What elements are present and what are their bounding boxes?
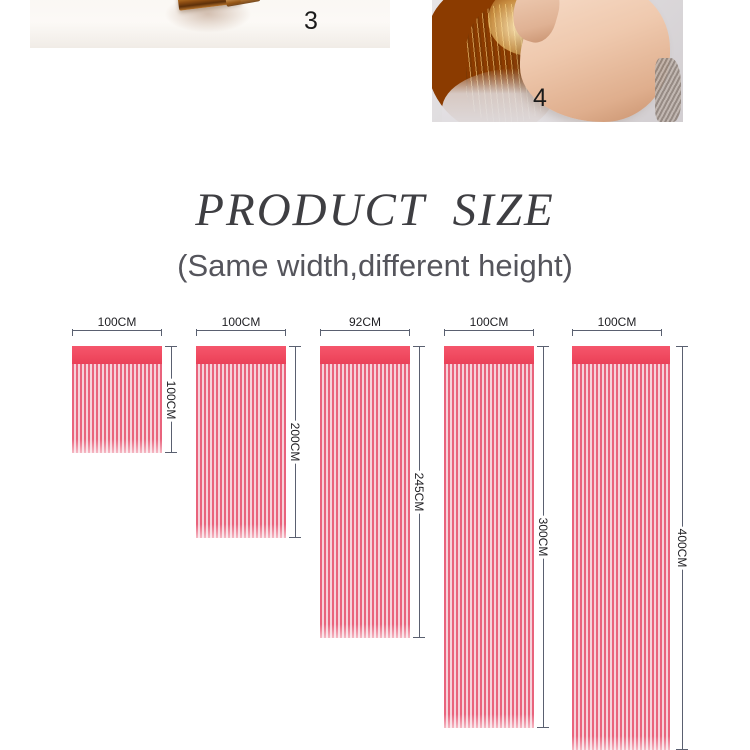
- curtain-header-bar: [444, 346, 534, 364]
- width-label-5: 100CM: [572, 315, 662, 329]
- curtain-diagram-2: [196, 346, 286, 538]
- dimension-cap-top: [413, 346, 425, 347]
- page-subtitle: (Same width,different height): [0, 248, 750, 284]
- product-size-page: { "photos": [ { "id": "photo-3", "number…: [0, 0, 750, 750]
- curtain-diagram-4: [444, 346, 534, 728]
- curtain-fringe: [572, 364, 670, 750]
- height-label-5: 400CM: [675, 527, 689, 570]
- dimension-rule: [572, 330, 662, 331]
- curtain-header-bar: [320, 346, 410, 364]
- dimension-cap-top: [676, 346, 688, 347]
- curtain-header-bar: [572, 346, 670, 364]
- width-dimension-3: 92CM: [320, 324, 410, 336]
- height-label-2: 200CM: [288, 421, 302, 464]
- curtain-diagram-1: [72, 346, 162, 453]
- dimension-cap-top: [289, 346, 301, 347]
- width-dimension-4: 100CM: [444, 324, 534, 336]
- dimension-cap-bottom: [165, 452, 177, 453]
- copper-clip-tail-icon: [226, 0, 261, 7]
- curtain-fringe: [196, 364, 286, 538]
- photo-number-4: 4: [533, 86, 547, 111]
- dimension-rule: [196, 330, 286, 331]
- photo-number-3: 3: [304, 9, 318, 34]
- height-dimension-3: 245CM: [413, 346, 425, 638]
- curtain-diagram-5: [572, 346, 670, 750]
- dimension-cap-bottom: [289, 537, 301, 538]
- dimension-cap-top: [165, 346, 177, 347]
- height-label-4: 300CM: [536, 516, 550, 559]
- curtain-diagram-3: [320, 346, 410, 638]
- curtain-fringe: [444, 364, 534, 728]
- height-dimension-5: 400CM: [676, 346, 688, 750]
- curtain-header-bar: [196, 346, 286, 364]
- height-label-1: 100CM: [164, 378, 178, 421]
- height-dimension-2: 200CM: [289, 346, 301, 538]
- page-title: PRODUCT SIZE: [0, 183, 750, 237]
- width-label-1: 100CM: [72, 315, 162, 329]
- dimension-rule: [72, 330, 162, 331]
- width-dimension-2: 100CM: [196, 324, 286, 336]
- product-photo-4: [432, 0, 683, 122]
- height-dimension-4: 300CM: [537, 346, 549, 728]
- width-label-3: 92CM: [320, 315, 410, 329]
- curtain-header-bar: [72, 346, 162, 364]
- dimension-rule: [320, 330, 410, 331]
- height-dimension-1: 100CM: [165, 346, 177, 453]
- product-photo-3: [30, 0, 390, 48]
- bracelet-icon: [655, 58, 681, 122]
- dimension-cap-bottom: [413, 637, 425, 638]
- width-dimension-1: 100CM: [72, 324, 162, 336]
- curtain-fringe: [72, 364, 162, 453]
- width-label-2: 100CM: [196, 315, 286, 329]
- width-label-4: 100CM: [444, 315, 534, 329]
- curtain-fringe: [320, 364, 410, 638]
- dimension-cap-bottom: [537, 727, 549, 728]
- dimension-rule: [444, 330, 534, 331]
- photo-3-shadow: [30, 22, 390, 48]
- height-label-3: 245CM: [412, 471, 426, 514]
- width-dimension-5: 100CM: [572, 324, 662, 336]
- dimension-cap-top: [537, 346, 549, 347]
